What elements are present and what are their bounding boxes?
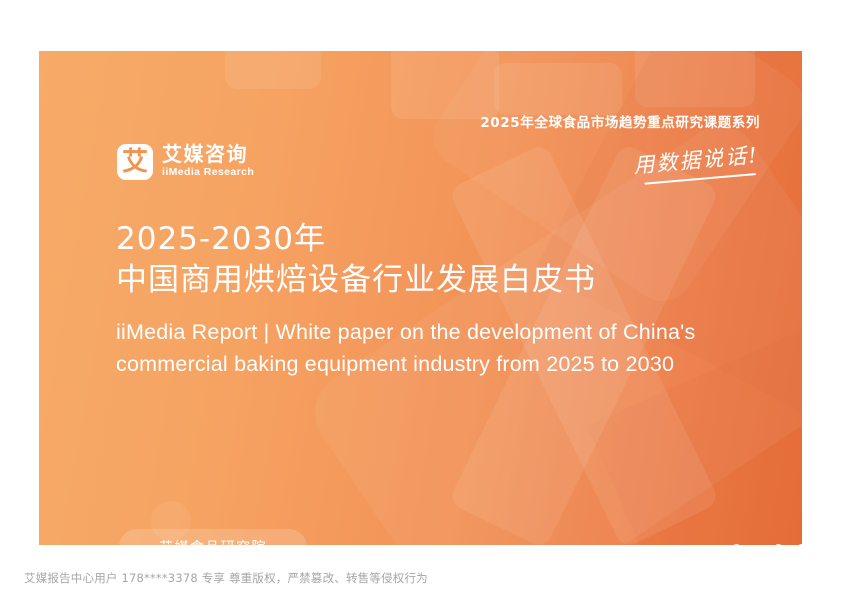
logo-mark-icon: 艾	[117, 144, 153, 180]
copyright-notice: 艾媒报告中心用户 178****3378 专享 尊重版权，严禁篡改、转售等侵权行…	[24, 570, 428, 586]
publisher-badge: 艾媒食品研究院	[119, 529, 307, 545]
logo-wordmark: 艾媒咨询 iiMedia Research	[162, 144, 254, 180]
title-block: 2025-2030年 中国商用烘焙设备行业发展白皮书 iiMedia Repor…	[116, 219, 796, 381]
iimedia-logo: 艾 艾媒咨询 iiMedia Research	[117, 144, 254, 180]
decor-rect-1	[225, 51, 321, 89]
page-dots	[732, 544, 802, 545]
series-label: 2025年全球食品市场趋势重点研究课题系列	[480, 111, 760, 131]
logo-name-cn: 艾媒咨询	[162, 144, 254, 165]
publisher-badge-label: 艾媒食品研究院	[159, 537, 267, 545]
decor-rect-2	[391, 51, 499, 119]
dot-3-icon	[797, 544, 802, 545]
page-title: 2025-2030年 中国商用烘焙设备行业发展白皮书	[116, 219, 796, 301]
title-main: 中国商用烘焙设备行业发展白皮书	[116, 262, 596, 298]
logo-name-en: iiMedia Research	[162, 166, 254, 180]
decor-rect-4	[635, 51, 755, 107]
decor-rect-3	[494, 63, 622, 115]
report-cover-card: 艾 艾媒咨询 iiMedia Research 2025年全球食品市场趋势重点研…	[39, 51, 802, 545]
dot-1-icon	[732, 544, 741, 545]
logo-mark-glyph: 艾	[122, 149, 148, 175]
dot-2-icon	[774, 544, 783, 545]
title-period: 2025-2030年	[116, 221, 326, 257]
subtitle-english: iiMedia Report | White paper on the deve…	[116, 317, 788, 381]
